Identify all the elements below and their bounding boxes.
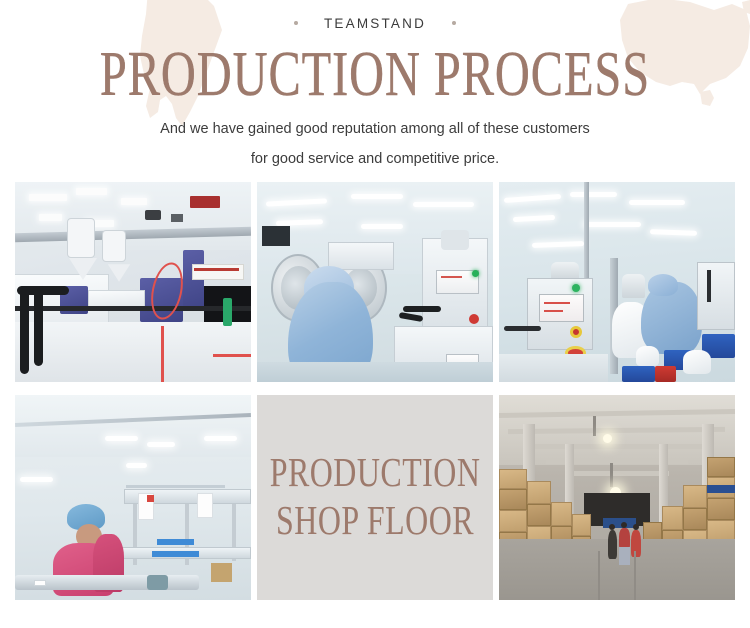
page-title: PRODUCTION PROCESS (26, 44, 724, 107)
assembly-line-photo (15, 395, 251, 600)
dot-left-icon (294, 21, 298, 25)
gallery-image-4[interactable] (15, 395, 251, 600)
production-shop-floor-panel: PRODUCTION SHOP FLOOR (257, 395, 493, 600)
brand-eyebrow: TEAMSTAND (324, 16, 426, 31)
injection-molding-photo (15, 182, 251, 382)
cleanroom-control-panel-photo (499, 182, 735, 382)
gallery-image-2[interactable] (257, 182, 493, 382)
panel-line-1: PRODUCTION (270, 450, 481, 498)
gallery-grid: PRODUCTION SHOP FLOOR (15, 182, 735, 600)
eyebrow-row: TEAMSTAND (0, 12, 750, 34)
page-subtitle: And we have gained good reputation among… (0, 114, 750, 174)
gallery-image-3[interactable] (499, 182, 735, 382)
subtitle-line-2: for good service and competitive price. (0, 144, 750, 174)
page-header: TEAMSTAND PRODUCTION PROCESS And we have… (0, 0, 750, 174)
production-process-page: TEAMSTAND PRODUCTION PROCESS And we have… (0, 0, 750, 628)
subtitle-line-1: And we have gained good reputation among… (0, 114, 750, 144)
warehouse-photo (499, 395, 735, 600)
panel-line-2: SHOP FLOOR (270, 498, 481, 546)
gallery-image-6[interactable] (499, 395, 735, 600)
cleanroom-operator-photo (257, 182, 493, 382)
dot-right-icon (452, 21, 456, 25)
panel-text: PRODUCTION SHOP FLOOR (270, 450, 481, 546)
gallery-image-1[interactable] (15, 182, 251, 382)
